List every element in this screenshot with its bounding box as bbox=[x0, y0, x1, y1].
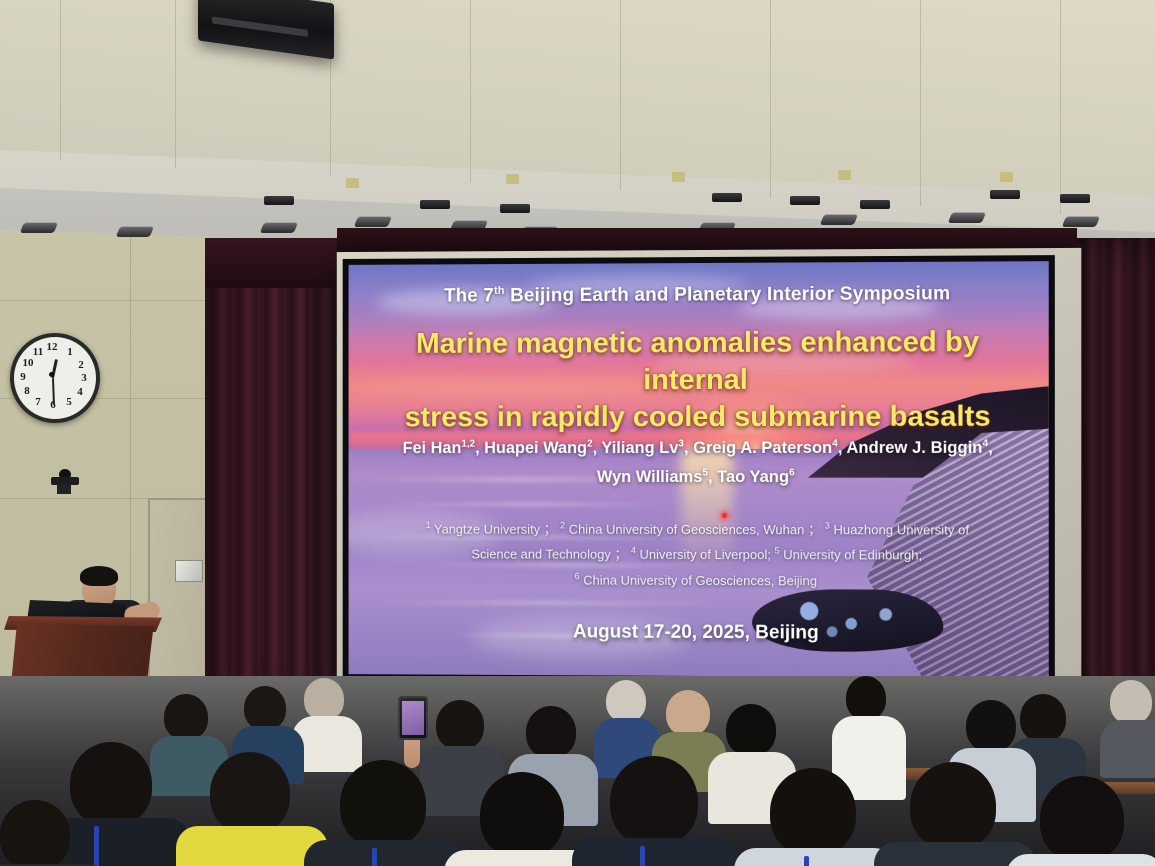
ceiling-spotlight bbox=[260, 222, 298, 233]
ceiling-spotlight bbox=[116, 226, 154, 237]
clock-numeral: 3 bbox=[77, 372, 91, 384]
ceiling-spotlight bbox=[712, 193, 742, 202]
wall-camera bbox=[47, 468, 81, 494]
affiliation-line-2: Science and Technology ； 4 University of… bbox=[373, 542, 1024, 569]
clock-numeral: 1 bbox=[63, 346, 77, 358]
ceiling-spotlight bbox=[354, 216, 392, 227]
authors-line-2: Wyn Williams5, Tao Yang6 bbox=[369, 463, 1027, 492]
wall-fixture bbox=[672, 172, 685, 182]
phone-screen bbox=[402, 701, 424, 735]
clock-numeral: 12 bbox=[45, 341, 59, 353]
ceiling-spotlight bbox=[1062, 216, 1100, 227]
projection-screen[interactable]: The 7th Beijing Earth and Planetary Inte… bbox=[349, 261, 1049, 678]
ceiling-spotlight bbox=[820, 214, 858, 225]
ceiling-spotlight bbox=[860, 200, 890, 209]
stage-curtain-left bbox=[205, 238, 337, 706]
wall-fixture bbox=[1000, 172, 1013, 182]
affiliation-line-1: 1 Yangtze University ； 2 China Universit… bbox=[373, 517, 1024, 543]
wall-fixture bbox=[506, 174, 519, 184]
clock-minute-hand bbox=[52, 378, 55, 405]
wall-fixture bbox=[838, 170, 851, 180]
ceiling-spotlight bbox=[500, 204, 530, 213]
slide-date-location: August 17-20, 2025, Beijing bbox=[349, 621, 1049, 646]
ceiling-spotlight bbox=[264, 196, 294, 205]
projection-screen-frame: The 7th Beijing Earth and Planetary Inte… bbox=[337, 248, 1082, 692]
wall-fixture bbox=[346, 178, 359, 188]
ceiling-spotlight bbox=[990, 190, 1020, 199]
slide-title-line-2: stress in rapidly cooled submarine basal… bbox=[362, 399, 1034, 437]
clock-numeral: 10 bbox=[21, 357, 35, 369]
door-window bbox=[175, 560, 203, 582]
affiliation-line-3: 6 China University of Geosciences, Beiji… bbox=[373, 567, 1024, 594]
slide-header: The 7th Beijing Earth and Planetary Inte… bbox=[349, 283, 1049, 308]
laser-pointer-dot bbox=[722, 513, 727, 518]
stage-curtain-right bbox=[1075, 238, 1155, 706]
slide-authors: Fei Han1,2, Huapei Wang2, Yiliang Lv3, G… bbox=[369, 434, 1027, 492]
speaker-hair bbox=[80, 566, 118, 586]
smartphone-recording[interactable] bbox=[398, 696, 428, 740]
ceiling-spotlight bbox=[790, 196, 820, 205]
clock-numeral: 11 bbox=[31, 346, 45, 358]
slide-title: Marine magnetic anomalies enhanced by in… bbox=[362, 324, 1034, 437]
ceiling-spotlight bbox=[948, 212, 986, 223]
clock-numeral: 2 bbox=[74, 359, 88, 371]
ceiling-spotlight bbox=[420, 200, 450, 209]
authors-line-1: Fei Han1,2, Huapei Wang2, Yiliang Lv3, G… bbox=[369, 434, 1027, 463]
screen-bezel: The 7th Beijing Earth and Planetary Inte… bbox=[343, 255, 1055, 684]
ceiling-spotlight bbox=[1060, 194, 1090, 203]
clock-numeral: 7 bbox=[31, 396, 45, 408]
curtain-valance-left bbox=[205, 238, 337, 288]
ceiling-spotlight bbox=[20, 222, 58, 233]
clock-numeral: 5 bbox=[62, 396, 76, 408]
clock-numeral: 9 bbox=[16, 371, 30, 383]
clock-numeral: 8 bbox=[20, 385, 34, 397]
slide-affiliations: 1 Yangtze University ； 2 China Universit… bbox=[373, 517, 1024, 594]
conference-hall-photo: 12 1 2 3 4 5 6 7 8 9 10 11 bbox=[0, 0, 1155, 866]
wall-clock: 12 1 2 3 4 5 6 7 8 9 10 11 bbox=[10, 333, 100, 423]
slide-title-line-1: Marine magnetic anomalies enhanced by in… bbox=[362, 324, 1034, 400]
